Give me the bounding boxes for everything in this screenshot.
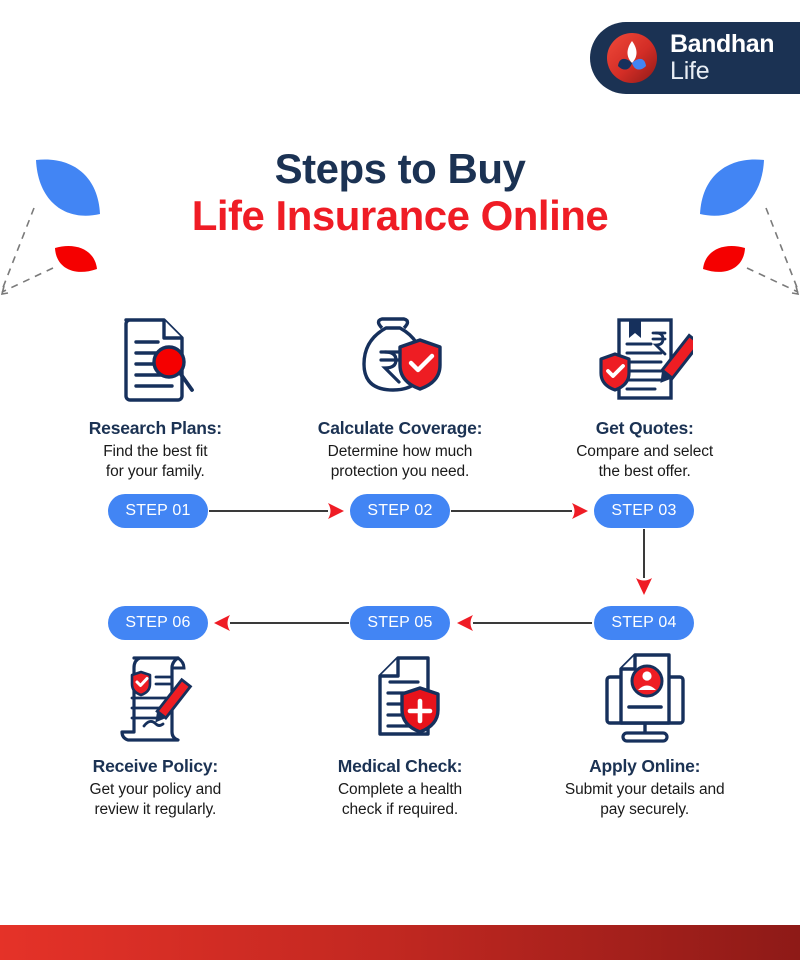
step-card-title: Calculate Coverage: <box>318 418 482 439</box>
step-badge-02[interactable]: STEP 02 <box>350 494 450 528</box>
step-card-desc-line1: Determine how much <box>328 443 473 460</box>
step-card-3: Get Quotes: Compare and select the best … <box>522 312 767 482</box>
step-card-5: Medical Check: Complete a health check i… <box>278 650 523 820</box>
monitor-application-icon <box>597 650 693 746</box>
step-card-2: Calculate Coverage: Determine how much p… <box>278 312 523 482</box>
step-card-desc-line1: Get your policy and <box>90 781 222 798</box>
brand-name: Bandhan Life <box>670 32 774 84</box>
step-card-desc-line1: Complete a health <box>338 781 462 798</box>
step-card-title: Get Quotes: <box>596 418 694 439</box>
step-card-desc-line2: check if required. <box>342 801 458 818</box>
step-badge-06[interactable]: STEP 06 <box>108 606 208 640</box>
step-card-desc: Determine how much protection you need. <box>328 442 473 482</box>
step-badge-row-top: STEP 01 STEP 02 STEP 03 <box>0 494 800 528</box>
step-card-title: Medical Check: <box>338 756 463 777</box>
brand-name-line1: Bandhan <box>670 32 774 57</box>
step-card-desc-line1: Compare and select <box>576 443 713 460</box>
step-card-desc-line2: for your family. <box>106 463 205 480</box>
step-badge-04[interactable]: STEP 04 <box>594 606 694 640</box>
page-title: Steps to Buy Life Insurance Online <box>0 145 800 239</box>
document-magnifier-icon <box>112 312 198 408</box>
step-card-title: Apply Online: <box>589 756 700 777</box>
money-bag-shield-icon <box>352 312 448 408</box>
step-card-desc-line2: pay securely. <box>600 801 689 818</box>
step-card-desc-line2: the best offer. <box>599 463 691 480</box>
step-card-4: Apply Online: Submit your details and pa… <box>522 650 767 820</box>
medical-document-shield-icon <box>354 650 446 746</box>
step-card-desc-line2: review it regularly. <box>94 801 216 818</box>
brand-name-line2: Life <box>670 59 774 84</box>
step-card-desc: Get your policy and review it regularly. <box>90 780 222 820</box>
brand-logo-badge: Bandhan Life <box>590 22 800 94</box>
step-card-desc: Find the best fit for your family. <box>103 442 207 482</box>
steps-row-top: Research Plans: Find the best fit for yo… <box>0 312 800 482</box>
step-badge-01[interactable]: STEP 01 <box>108 494 208 528</box>
step-card-desc: Complete a health check if required. <box>338 780 462 820</box>
title-line-1: Steps to Buy <box>0 145 800 192</box>
arrowhead-down-icon <box>636 578 652 595</box>
step-card-desc: Compare and select the best offer. <box>576 442 713 482</box>
step-card-title: Research Plans: <box>89 418 222 439</box>
infographic-page: Bandhan Life Steps to Buy Life Insurance… <box>0 0 800 960</box>
title-line-2: Life Insurance Online <box>0 192 800 239</box>
step-card-desc-line1: Submit your details and <box>565 781 725 798</box>
step-card-desc: Submit your details and pay securely. <box>565 780 725 820</box>
bandhan-lotus-logo-icon <box>606 32 658 84</box>
step-badge-05[interactable]: STEP 05 <box>350 606 450 640</box>
step-card-6: Receive Policy: Get your policy and revi… <box>33 650 278 820</box>
footer-bar <box>0 925 800 960</box>
step-card-1: Research Plans: Find the best fit for yo… <box>33 312 278 482</box>
quote-document-pencil-icon <box>597 312 693 408</box>
step-badge-row-bottom: STEP 06 STEP 05 STEP 04 <box>0 606 800 640</box>
policy-scroll-pen-icon <box>110 650 200 746</box>
step-badge-03[interactable]: STEP 03 <box>594 494 694 528</box>
steps-row-bottom: Receive Policy: Get your policy and revi… <box>0 650 800 820</box>
step-card-desc-line2: protection you need. <box>331 463 469 480</box>
step-card-desc-line1: Find the best fit <box>103 443 207 460</box>
step-card-title: Receive Policy: <box>93 756 218 777</box>
